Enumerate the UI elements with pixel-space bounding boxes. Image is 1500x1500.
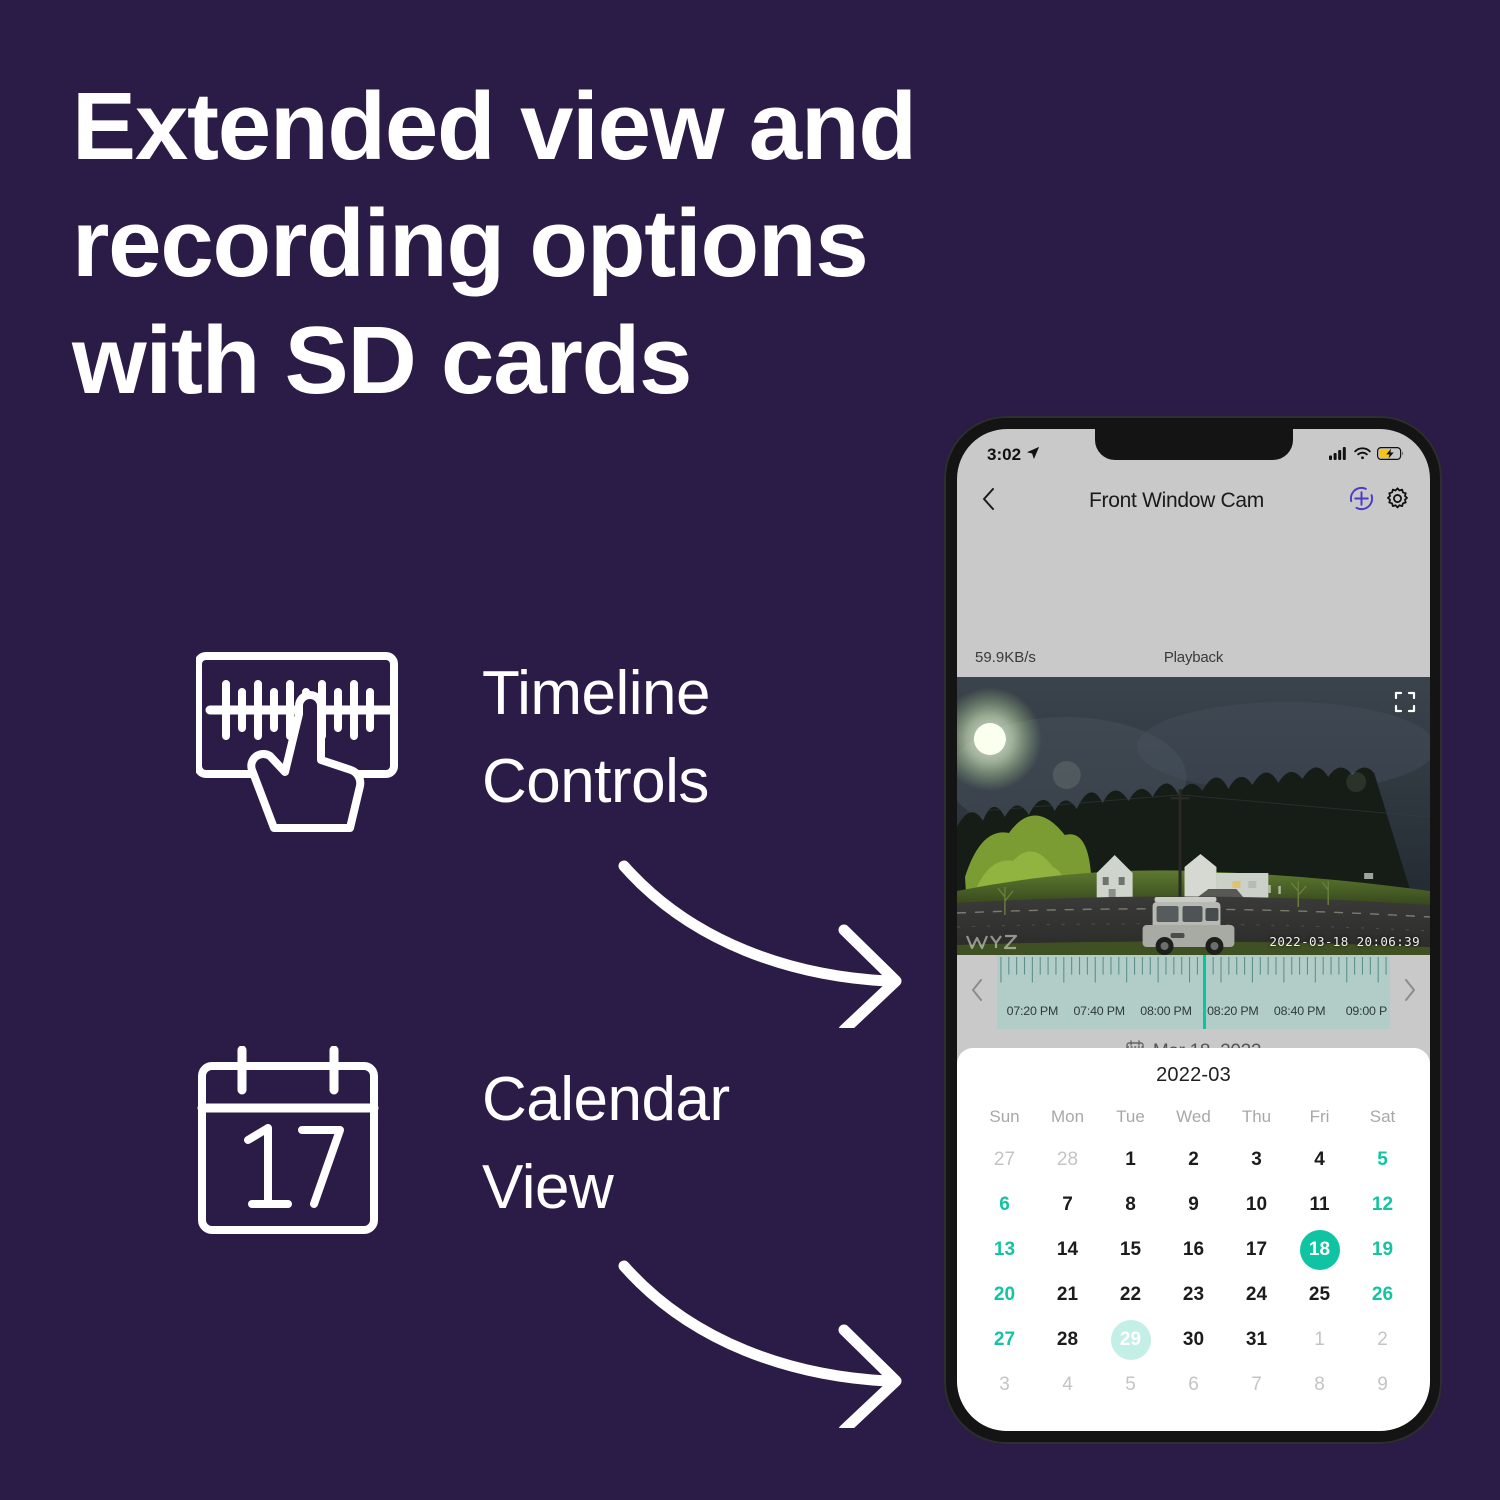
back-button[interactable] xyxy=(971,484,1005,518)
calendar-day-number: 18 xyxy=(1300,1230,1340,1270)
calendar-day-number: 2 xyxy=(1377,1329,1388,1351)
calendar-day-cell[interactable]: 5 xyxy=(1099,1364,1162,1405)
calendar-day-cell[interactable]: 8 xyxy=(1099,1184,1162,1225)
calendar-day-cell[interactable]: 13 xyxy=(973,1229,1036,1270)
calendar-day-number: 5 xyxy=(1125,1374,1136,1396)
curved-arrow-right-icon xyxy=(612,848,922,1033)
calendar-day-number: 28 xyxy=(1057,1329,1078,1351)
calendar-day-number: 11 xyxy=(1309,1194,1329,1216)
calendar-day-cell[interactable]: 21 xyxy=(1036,1274,1099,1315)
chevron-left-icon xyxy=(971,979,983,1006)
calendar-day-cell[interactable]: 12 xyxy=(1351,1184,1414,1225)
calendar-day-number: 12 xyxy=(1372,1194,1393,1216)
calendar-day-number: 16 xyxy=(1183,1239,1204,1261)
calendar-day-cell[interactable]: 18 xyxy=(1288,1229,1351,1270)
calendar-day-cell[interactable]: 9 xyxy=(1351,1364,1414,1405)
calendar-day-cell[interactable]: 4 xyxy=(1036,1364,1099,1405)
calendar-day-number: 27 xyxy=(994,1329,1015,1351)
calendar-day-number: 10 xyxy=(1246,1194,1267,1216)
calendar-day-cell[interactable]: 17 xyxy=(1225,1229,1288,1270)
calendar-day-number: 8 xyxy=(1314,1374,1325,1396)
dow-label: Mon xyxy=(1036,1101,1099,1139)
calendar-day-cell[interactable]: 1 xyxy=(1099,1139,1162,1180)
app-nav-bar: Front Window Cam xyxy=(957,475,1430,527)
feature-timeline-controls: Timeline Controls xyxy=(196,640,710,836)
add-device-icon[interactable] xyxy=(1348,485,1375,517)
calendar-day-cell[interactable]: 3 xyxy=(973,1364,1036,1405)
timeline-prev-button[interactable] xyxy=(957,955,997,1029)
calendar-day-cell[interactable]: 19 xyxy=(1351,1229,1414,1270)
calendar-day-cell[interactable]: 1 xyxy=(1288,1319,1351,1360)
calendar-day-number: 9 xyxy=(1377,1374,1388,1396)
calendar-day-number: 3 xyxy=(999,1374,1010,1396)
calendar-day-cell[interactable]: 30 xyxy=(1162,1319,1225,1360)
calendar-day-cell[interactable]: 3 xyxy=(1225,1139,1288,1180)
timeline-touch-icon xyxy=(196,640,408,836)
timeline-label: 09:00 P xyxy=(1346,1004,1387,1018)
wyze-watermark xyxy=(965,933,1019,951)
timeline-next-button[interactable] xyxy=(1390,955,1430,1029)
headline-line-2: recording options xyxy=(72,185,1222,302)
calendar-day-cell[interactable]: 2 xyxy=(1351,1319,1414,1360)
calendar-day-number: 31 xyxy=(1246,1329,1267,1351)
fullscreen-expand-icon[interactable] xyxy=(1394,691,1416,713)
camera-title: Front Window Cam xyxy=(1005,489,1348,513)
calendar-day-cell[interactable]: 6 xyxy=(1162,1364,1225,1405)
calendar-day-cell[interactable]: 31 xyxy=(1225,1319,1288,1360)
calendar-day-cell[interactable]: 9 xyxy=(1162,1184,1225,1225)
calendar-day-number: 7 xyxy=(1062,1194,1073,1216)
calendar-day-cell[interactable]: 10 xyxy=(1225,1184,1288,1225)
calendar-day-number: 7 xyxy=(1251,1374,1262,1396)
calendar-day-cell[interactable]: 24 xyxy=(1225,1274,1288,1315)
calendar-day-number: 3 xyxy=(1251,1149,1262,1171)
calendar-day-number: 26 xyxy=(1372,1284,1393,1306)
calendar-day-number: 17 xyxy=(1246,1239,1267,1261)
calendar-day-number: 27 xyxy=(994,1149,1015,1171)
camera-video-feed[interactable]: 2022-03-18 20:06:39 xyxy=(957,677,1430,955)
timeline-label: 08:20 PM xyxy=(1207,1004,1258,1018)
calendar-day-cell[interactable]: 4 xyxy=(1288,1139,1351,1180)
calendar-day-number: 14 xyxy=(1057,1239,1078,1261)
status-time: 3:02 xyxy=(987,445,1021,465)
calendar-day-cell[interactable]: 28 xyxy=(1036,1139,1099,1180)
dow-label: Tue xyxy=(1099,1101,1162,1139)
chevron-left-icon xyxy=(982,488,995,515)
calendar-day-number: 4 xyxy=(1314,1149,1325,1171)
gear-icon[interactable] xyxy=(1385,486,1410,516)
dow-label: Wed xyxy=(1162,1101,1225,1139)
dow-label: Sat xyxy=(1351,1101,1414,1139)
calendar-day-cell[interactable]: 6 xyxy=(973,1184,1036,1225)
video-timestamp-overlay: 2022-03-18 20:06:39 xyxy=(1269,934,1420,949)
calendar-day-number: 23 xyxy=(1183,1284,1204,1306)
cellular-bars-icon xyxy=(1329,445,1348,465)
calendar-day-number: 21 xyxy=(1057,1284,1078,1306)
curved-arrow-right-icon xyxy=(612,1248,922,1433)
calendar-day-number: 5 xyxy=(1377,1149,1388,1171)
calendar-day-number: 4 xyxy=(1062,1374,1073,1396)
calendar-day-cell[interactable]: 11 xyxy=(1288,1184,1351,1225)
calendar-day-number: 15 xyxy=(1120,1239,1141,1261)
timeline-label: 07:20 PM xyxy=(1007,1004,1058,1018)
calendar-day-grid[interactable]: 2728123456789101112131415161718192021222… xyxy=(973,1139,1414,1405)
calendar-day-cell[interactable]: 22 xyxy=(1099,1274,1162,1315)
calendar-day-cell[interactable]: 7 xyxy=(1225,1364,1288,1405)
dow-label: Sun xyxy=(973,1101,1036,1139)
calendar-day-cell[interactable]: 14 xyxy=(1036,1229,1099,1270)
timeline-label: 08:00 PM xyxy=(1140,1004,1191,1018)
calendar-day-cell[interactable]: 15 xyxy=(1099,1229,1162,1270)
calendar-month-title: 2022-03 xyxy=(973,1064,1414,1087)
timeline-label: 07:40 PM xyxy=(1073,1004,1124,1018)
calendar-day-number: 19 xyxy=(1372,1239,1393,1261)
headline-line-1: Extended view and xyxy=(72,68,1222,185)
phone-screen: 3:02 xyxy=(957,429,1430,1431)
calendar-day-cell[interactable]: 2 xyxy=(1162,1139,1225,1180)
timeline-labels: 07:20 PM 07:40 PM 08:00 PM 08:20 PM 08:4… xyxy=(997,1004,1390,1022)
headline-line-3: with SD cards xyxy=(72,302,1222,419)
calendar-17-icon xyxy=(196,1046,408,1242)
phone-mockup: 3:02 xyxy=(944,416,1442,1444)
calendar-day-number: 28 xyxy=(1057,1149,1078,1171)
wifi-icon xyxy=(1354,445,1371,465)
calendar-day-number: 29 xyxy=(1111,1320,1151,1360)
nav-spacer xyxy=(957,527,1430,637)
calendar-day-number: 8 xyxy=(1125,1194,1136,1216)
calendar-day-number: 6 xyxy=(999,1194,1010,1216)
dow-label: Thu xyxy=(1225,1101,1288,1139)
calendar-day-cell[interactable]: 7 xyxy=(1036,1184,1099,1225)
calendar-day-number: 24 xyxy=(1246,1284,1267,1306)
timeline-label: 08:40 PM xyxy=(1274,1004,1325,1018)
calendar-day-number: 1 xyxy=(1125,1149,1136,1171)
calendar-day-number: 2 xyxy=(1188,1149,1199,1171)
calendar-day-cell[interactable]: 28 xyxy=(1036,1319,1099,1360)
location-arrow-icon xyxy=(1026,445,1040,465)
bitrate-label: 59.9KB/s xyxy=(975,649,1036,666)
calendar-day-number: 25 xyxy=(1309,1284,1330,1306)
feature-calendar-view: Calendar View xyxy=(196,1046,730,1242)
calendar-day-number: 22 xyxy=(1120,1284,1141,1306)
calendar-day-number: 13 xyxy=(994,1239,1015,1261)
stream-info-bar: 59.9KB/s Playback xyxy=(957,637,1430,677)
calendar-day-cell[interactable]: 27 xyxy=(973,1319,1036,1360)
battery-charging-icon xyxy=(1377,445,1404,465)
chevron-right-icon xyxy=(1404,979,1416,1006)
calendar-day-number: 30 xyxy=(1183,1329,1204,1351)
calendar-day-cell[interactable]: 27 xyxy=(973,1139,1036,1180)
phone-notch xyxy=(1095,429,1293,460)
calendar-day-number: 9 xyxy=(1188,1194,1199,1216)
calendar-dow-row: Sun Mon Tue Wed Thu Fri Sat xyxy=(973,1101,1414,1139)
feature-label-calendar: Calendar View xyxy=(482,1056,730,1232)
calendar-day-cell[interactable]: 29 xyxy=(1099,1319,1162,1360)
calendar-day-cell[interactable]: 8 xyxy=(1288,1364,1351,1405)
feature-label-timeline: Timeline Controls xyxy=(482,650,710,826)
video-frame xyxy=(957,677,1430,955)
calendar-day-cell[interactable]: 20 xyxy=(973,1274,1036,1315)
calendar-day-cell[interactable]: 5 xyxy=(1351,1139,1414,1180)
timeline-scrubber[interactable]: 07:20 PM 07:40 PM 08:00 PM 08:20 PM 08:4… xyxy=(957,955,1430,1029)
page-title: Extended view and recording options with… xyxy=(72,68,1222,419)
calendar-day-number: 6 xyxy=(1188,1374,1199,1396)
calendar-sheet[interactable]: 2022-03 Sun Mon Tue Wed Thu Fri Sat 2728… xyxy=(957,1048,1430,1431)
calendar-day-number: 20 xyxy=(994,1284,1015,1306)
calendar-day-cell[interactable]: 16 xyxy=(1162,1229,1225,1270)
calendar-day-cell[interactable]: 23 xyxy=(1162,1274,1225,1315)
calendar-day-cell[interactable]: 25 xyxy=(1288,1274,1351,1315)
timeline-track[interactable]: 07:20 PM 07:40 PM 08:00 PM 08:20 PM 08:4… xyxy=(997,955,1390,1029)
playback-mode-label: Playback xyxy=(975,649,1412,666)
calendar-day-cell[interactable]: 26 xyxy=(1351,1274,1414,1315)
dow-label: Fri xyxy=(1288,1101,1351,1139)
calendar-day-number: 1 xyxy=(1314,1329,1325,1351)
